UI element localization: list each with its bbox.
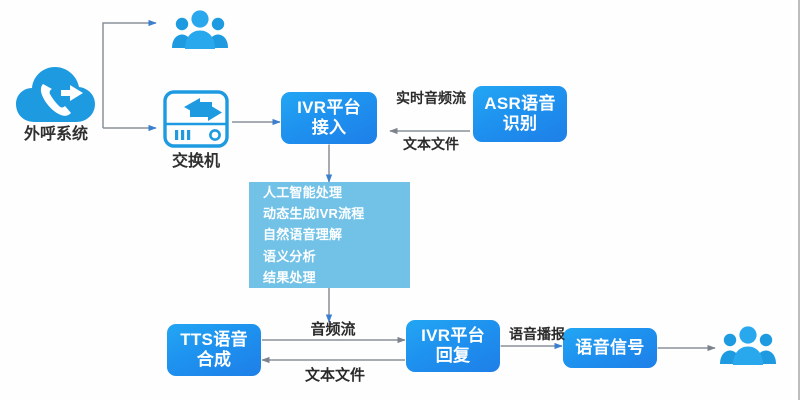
customer-people-group-icon (718, 324, 778, 370)
ivr-reply-line1: IVR平台 (421, 326, 485, 346)
tts-line2: 合成 (197, 350, 232, 370)
node-ivr-reply[interactable]: IVR平台 回复 (406, 320, 500, 372)
voice-signal-label: 语音信号 (575, 338, 644, 358)
ai-panel-line-2: 动态生成IVR流程 (263, 203, 410, 224)
people-group-icon (170, 8, 230, 54)
asr-line1: ASR语音 (484, 94, 555, 114)
node-tts[interactable]: TTS语音 合成 (167, 324, 261, 376)
ivr-reply-line2: 回复 (436, 346, 471, 366)
ai-panel-line-5: 结果处理 (263, 267, 410, 288)
node-ivr-access[interactable]: IVR平台 接入 (281, 92, 377, 144)
ivr-access-line1: IVR平台 (297, 98, 361, 118)
ai-panel-line-4: 语义分析 (263, 246, 410, 267)
switch-label: 交换机 (156, 147, 236, 171)
ai-panel-line-3: 自然语音理解 (263, 224, 410, 245)
edge-label-text-file-top: 文本文件 (390, 134, 472, 154)
ivr-access-line2: 接入 (312, 118, 347, 138)
asr-line2: 识别 (503, 114, 538, 134)
outbound-system-label: 外呼系统 (8, 120, 104, 144)
edge-label-text-file-bottom: 文本文件 (294, 364, 376, 385)
node-ai-processing-panel: 人工智能处理 动态生成IVR流程 自然语音理解 语义分析 结果处理 (249, 182, 410, 288)
node-asr[interactable]: ASR语音 识别 (473, 86, 567, 142)
edge-label-audio-stream-bottom: 音频流 (294, 318, 372, 339)
node-voice-signal[interactable]: 语音信号 (563, 328, 657, 368)
cloud-phone-outgoing-icon (13, 60, 99, 128)
edge-label-realtime-audio-stream: 实时音频流 (383, 88, 479, 108)
edge-label-voice-broadcast: 语音播报 (501, 324, 573, 344)
ai-panel-line-1: 人工智能处理 (263, 182, 410, 203)
tts-line1: TTS语音 (180, 330, 248, 350)
network-switch-icon (160, 88, 232, 150)
diagram-canvas: 外呼系统 交换机 (0, 0, 800, 400)
edge-outbound-to-agents (103, 23, 156, 128)
